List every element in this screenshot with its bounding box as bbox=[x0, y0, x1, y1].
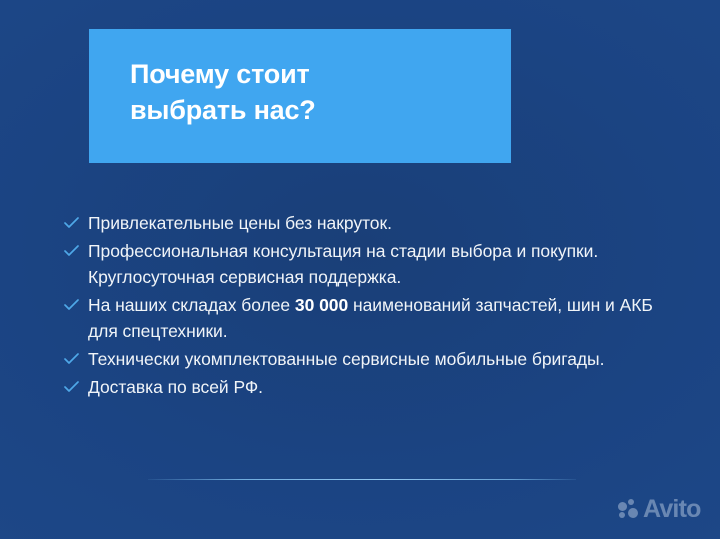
list-item-text-prefix: Профессиональная консультация на стадии … bbox=[88, 241, 598, 288]
list-item-text: Привлекательные цены без накруток. bbox=[88, 210, 668, 237]
list-item-text: На наших складах более 30 000 наименован… bbox=[88, 292, 668, 345]
title-panel: Почему стоит выбрать нас? bbox=[89, 29, 511, 163]
avito-watermark-label: Avito bbox=[643, 497, 701, 522]
list-item-text: Технически укомплектованные сервисные мо… bbox=[88, 346, 668, 373]
list-item: Профессиональная консультация на стадии … bbox=[64, 238, 668, 291]
list-item-text-prefix: Технически укомплектованные сервисные мо… bbox=[88, 349, 604, 369]
slide-canvas: Почему стоит выбрать нас? Привлекательны… bbox=[0, 0, 720, 539]
avito-watermark: Avito bbox=[618, 497, 701, 522]
list-item: Привлекательные цены без накруток. bbox=[64, 210, 668, 237]
check-icon bbox=[64, 292, 88, 311]
page-title: Почему стоит выбрать нас? bbox=[130, 57, 497, 129]
list-item-text-prefix: Привлекательные цены без накруток. bbox=[88, 213, 392, 233]
list-item: Доставка по всей РФ. bbox=[64, 374, 668, 401]
avito-logo-icon bbox=[618, 499, 642, 521]
check-icon bbox=[64, 346, 88, 365]
benefits-list: Привлекательные цены без накруток. Профе… bbox=[64, 210, 668, 401]
list-item-text-emphasis: 30 000 bbox=[295, 295, 348, 315]
list-item: Технически укомплектованные сервисные мо… bbox=[64, 346, 668, 373]
divider bbox=[148, 479, 576, 480]
list-item-text: Доставка по всей РФ. bbox=[88, 374, 668, 401]
list-item-text-prefix: На наших складах более bbox=[88, 295, 295, 315]
list-item-text: Профессиональная консультация на стадии … bbox=[88, 238, 668, 291]
check-icon bbox=[64, 374, 88, 393]
list-item: На наших складах более 30 000 наименован… bbox=[64, 292, 668, 345]
check-icon bbox=[64, 210, 88, 229]
check-icon bbox=[64, 238, 88, 257]
list-item-text-prefix: Доставка по всей РФ. bbox=[88, 377, 263, 397]
